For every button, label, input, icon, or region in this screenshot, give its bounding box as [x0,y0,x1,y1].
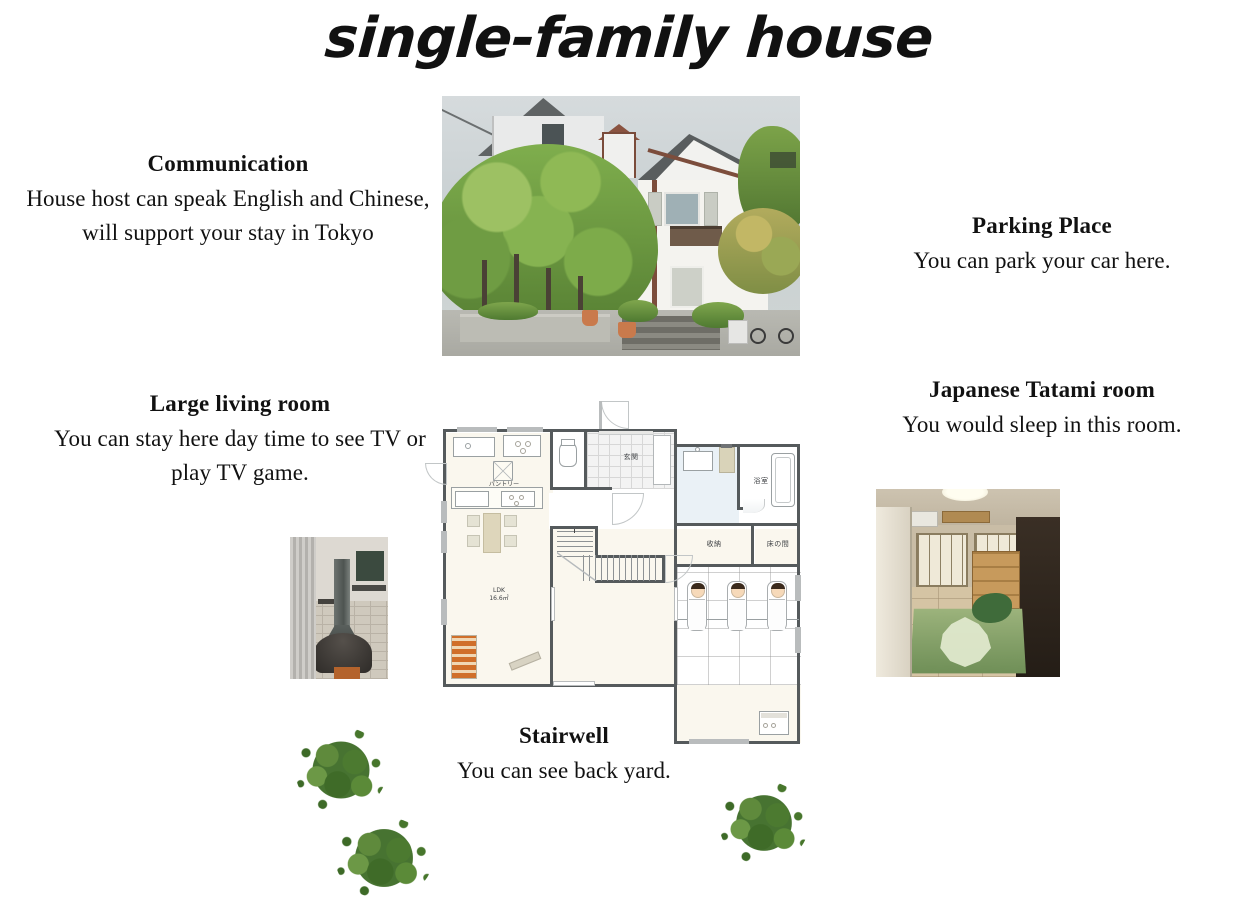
living-body: You can stay here day time to see TV or … [42,422,438,490]
tatami-heading: Japanese Tatami room [836,374,1248,405]
dining-chair-4 [504,535,517,547]
parking-body: You can park your car here. [838,244,1246,278]
wall-toilet-bottom [550,487,612,490]
rear-counter [761,713,787,718]
wall-bath-left [737,447,740,509]
stairs-winder [557,551,597,581]
sleeping-person-hair [691,583,705,589]
rear-burner-2 [771,723,776,728]
left-wall-panel [876,507,912,677]
dining-table [483,513,501,553]
toilet-tank [561,439,575,446]
futon-blanket [689,599,705,630]
communication-body: House host can speak English and Chinese… [18,182,438,250]
tatami-room-photo [876,489,1060,677]
window-ldk-west-2 [441,531,447,553]
stairs-direction-arrow [574,529,575,533]
wall-toilet-left [550,432,553,490]
pantry-cross [493,461,513,481]
curtain [290,537,316,679]
kitchen-sink-island [455,491,489,507]
dining-chair-2 [467,535,480,547]
wall-rear-left [674,684,677,744]
feature-large-living-room: Large living room You can stay here day … [42,388,438,490]
feature-japanese-tatami-room: Japanese Tatami room You would sleep in … [836,374,1248,442]
window-tatami-east-1 [795,575,801,601]
dining-chair-3 [504,515,517,527]
vanity-faucet [695,447,700,452]
washing-machine [719,447,735,473]
genkan-door-threshold [599,431,653,435]
vanity-sink [683,451,713,471]
shrub-center [618,300,658,322]
feature-communication: Communication House host can speak Engli… [18,148,438,250]
tree-plan-view [722,784,806,862]
genkan-label: 玄関 [609,453,653,462]
feature-parking-place: Parking Place You can park your car here… [838,210,1246,278]
futon-blanket [729,599,745,630]
shutter-right [704,192,718,226]
window-rear-south [689,739,749,744]
firewood [334,667,360,679]
sliding-door-south [553,681,595,686]
window-tatami-east-2 [795,627,801,653]
floor-plan: パントリー LDK 16.6㎡ 玄関 浴室 收納 床の間 [437,395,811,757]
burner-3 [520,448,526,454]
ldk-label-text: LDK [493,587,505,594]
stove-flue-pipe [334,559,350,633]
sliding-door-ldk [551,587,555,621]
wall-storage-bottom [674,564,800,567]
bicycle [750,314,794,344]
ldk-area-text: 16.6㎡ [489,595,508,602]
wall-tokonoma-left [751,526,754,564]
shoji-screen-left [916,533,968,587]
wall-mounted-tv [356,551,384,581]
futon-bed [727,581,747,631]
living-heading: Large living room [42,388,438,419]
window-ldk-west-3 [441,599,447,625]
window-kitchen-north-2 [507,427,543,432]
photo-watermark [770,152,796,168]
waste-bin [728,320,748,344]
window-ldk-west-1 [441,501,447,523]
sink-drain-upper [465,443,471,449]
tree-plan-view [338,820,430,896]
futon-bed [767,581,787,631]
palm-tree [718,208,800,294]
dining-chair-1 [467,515,480,527]
living-room-fireplace-photo [290,537,388,679]
rear-burner-1 [763,723,768,728]
house-exterior-photo [442,96,800,356]
wall-plaque [942,511,990,523]
burner-2 [525,441,531,447]
kitchen-sink-upper [453,437,495,457]
tatami-body: You would sleep in this room. [836,408,1248,442]
island-burner-2 [519,495,524,500]
bathtub-inner [775,457,791,503]
entrance-door-leaf [599,401,602,429]
washer-top [721,444,732,448]
futon-blanket [769,599,785,630]
storage-label: 收納 [689,540,739,549]
shoe-cabinet [653,435,671,485]
page-title: single-family house [0,6,1258,71]
stairwell-body: You can see back yard. [402,754,726,788]
sleeping-person-hair [771,583,785,589]
tokonoma-label: 床の間 [759,540,797,549]
wall-toilet-right [584,432,587,490]
futon-bed [687,581,707,631]
window-lower [670,266,704,308]
parking-heading: Parking Place [838,210,1246,241]
communication-heading: Communication [18,148,438,179]
window-kitchen-north [457,427,497,432]
entrance-door-swing [601,401,629,429]
flower-pot-1 [582,310,598,326]
tree-plan-view [298,730,384,810]
island-burner-3 [514,501,519,506]
shrub-left [478,302,538,320]
flower-pot-2 [618,322,636,338]
burner-1 [515,441,521,447]
wall-storage-top [674,523,800,526]
ldk-label: LDK 16.6㎡ [475,587,523,602]
sliding-door-tatami [674,587,678,621]
balcony [670,226,722,246]
island-burner-1 [509,495,514,500]
window-upper-right [664,192,700,226]
sofa-furniture [451,635,477,679]
wall-shelf [352,585,386,591]
sleeping-person-hair [731,583,745,589]
